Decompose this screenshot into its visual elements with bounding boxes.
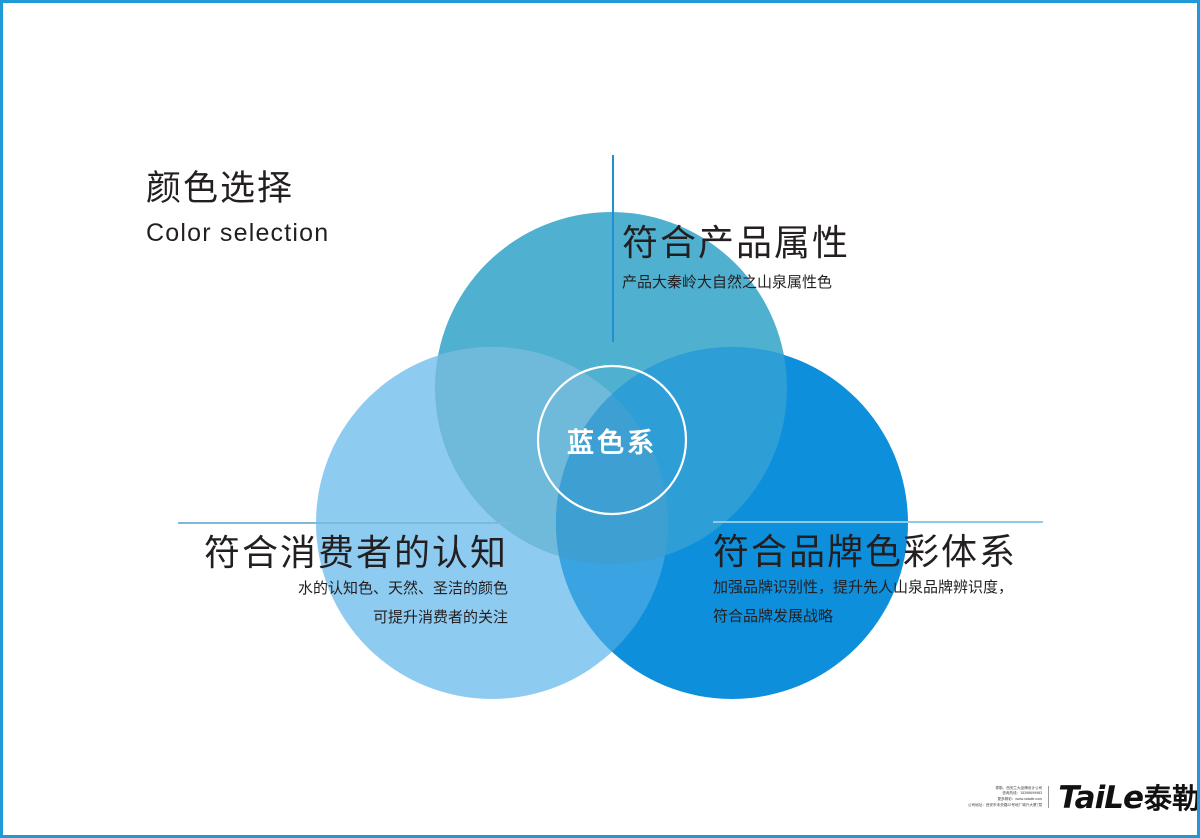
brand-logo-han: 泰勒 xyxy=(1144,777,1200,817)
page-title-cn: 颜色选择 xyxy=(146,167,476,211)
slide-canvas: 颜色选择 Color selection 符合产品属性 产品大秦岭大自然之山泉属… xyxy=(0,0,1200,838)
brand-logo: TaiLe 泰勒 xyxy=(1049,777,1200,817)
lobe-subtitle-brand-color-system-line-1: 加强品牌识别性，提升先人山泉品牌辨识度， xyxy=(713,576,1043,601)
lobe-label-consumer-cognition: 符合消费者的认知 水的认知色、天然、圣洁的颜色 可提升消费者的关注 xyxy=(178,522,508,631)
lobe-title-consumer-cognition: 符合消费者的认知 xyxy=(178,532,508,573)
footer-logo-bar: 泰勒，西安兰大品牌设计公司 咨询热线：15398699983 更多精彩：www.… xyxy=(953,771,1200,823)
lobe-title-product-attribute: 符合产品属性 xyxy=(622,222,850,263)
lobe-title-brand-color-system: 符合品牌色彩体系 xyxy=(713,531,1043,572)
lobe-rule-brand-color-system xyxy=(713,521,1043,523)
lobe-rule-consumer-cognition xyxy=(178,522,508,524)
page-title-en: Color selection xyxy=(146,215,476,253)
lobe-subtitle-consumer-cognition-line-1: 水的认知色、天然、圣洁的颜色 xyxy=(178,577,508,602)
lobe-subtitle-product-attribute-line-1: 产品大秦岭大自然之山泉属性色 xyxy=(622,271,850,296)
lobe-label-product-attribute: 符合产品属性 产品大秦岭大自然之山泉属性色 xyxy=(622,222,850,296)
connector-line-vertical xyxy=(612,155,614,342)
venn-diagram xyxy=(3,3,1200,838)
page-title-block: 颜色选择 Color selection xyxy=(146,167,476,252)
footer-fineprint: 泰勒，西安兰大品牌设计公司 咨询热线：15398699983 更多精彩：www.… xyxy=(968,786,1049,808)
footer-fineprint-line-4: 公司地址：西安市未央路22号地厂城兴大厦7层 xyxy=(968,803,1042,809)
lobe-label-brand-color-system: 符合品牌色彩体系 加强品牌识别性，提升先人山泉品牌辨识度， 符合品牌发展战略 xyxy=(713,521,1043,630)
lobe-subtitle-brand-color-system-line-2: 符合品牌发展战略 xyxy=(713,605,1043,630)
brand-logo-latin: TaiLe xyxy=(1058,780,1143,816)
lobe-subtitle-consumer-cognition-line-2: 可提升消费者的关注 xyxy=(178,606,508,631)
